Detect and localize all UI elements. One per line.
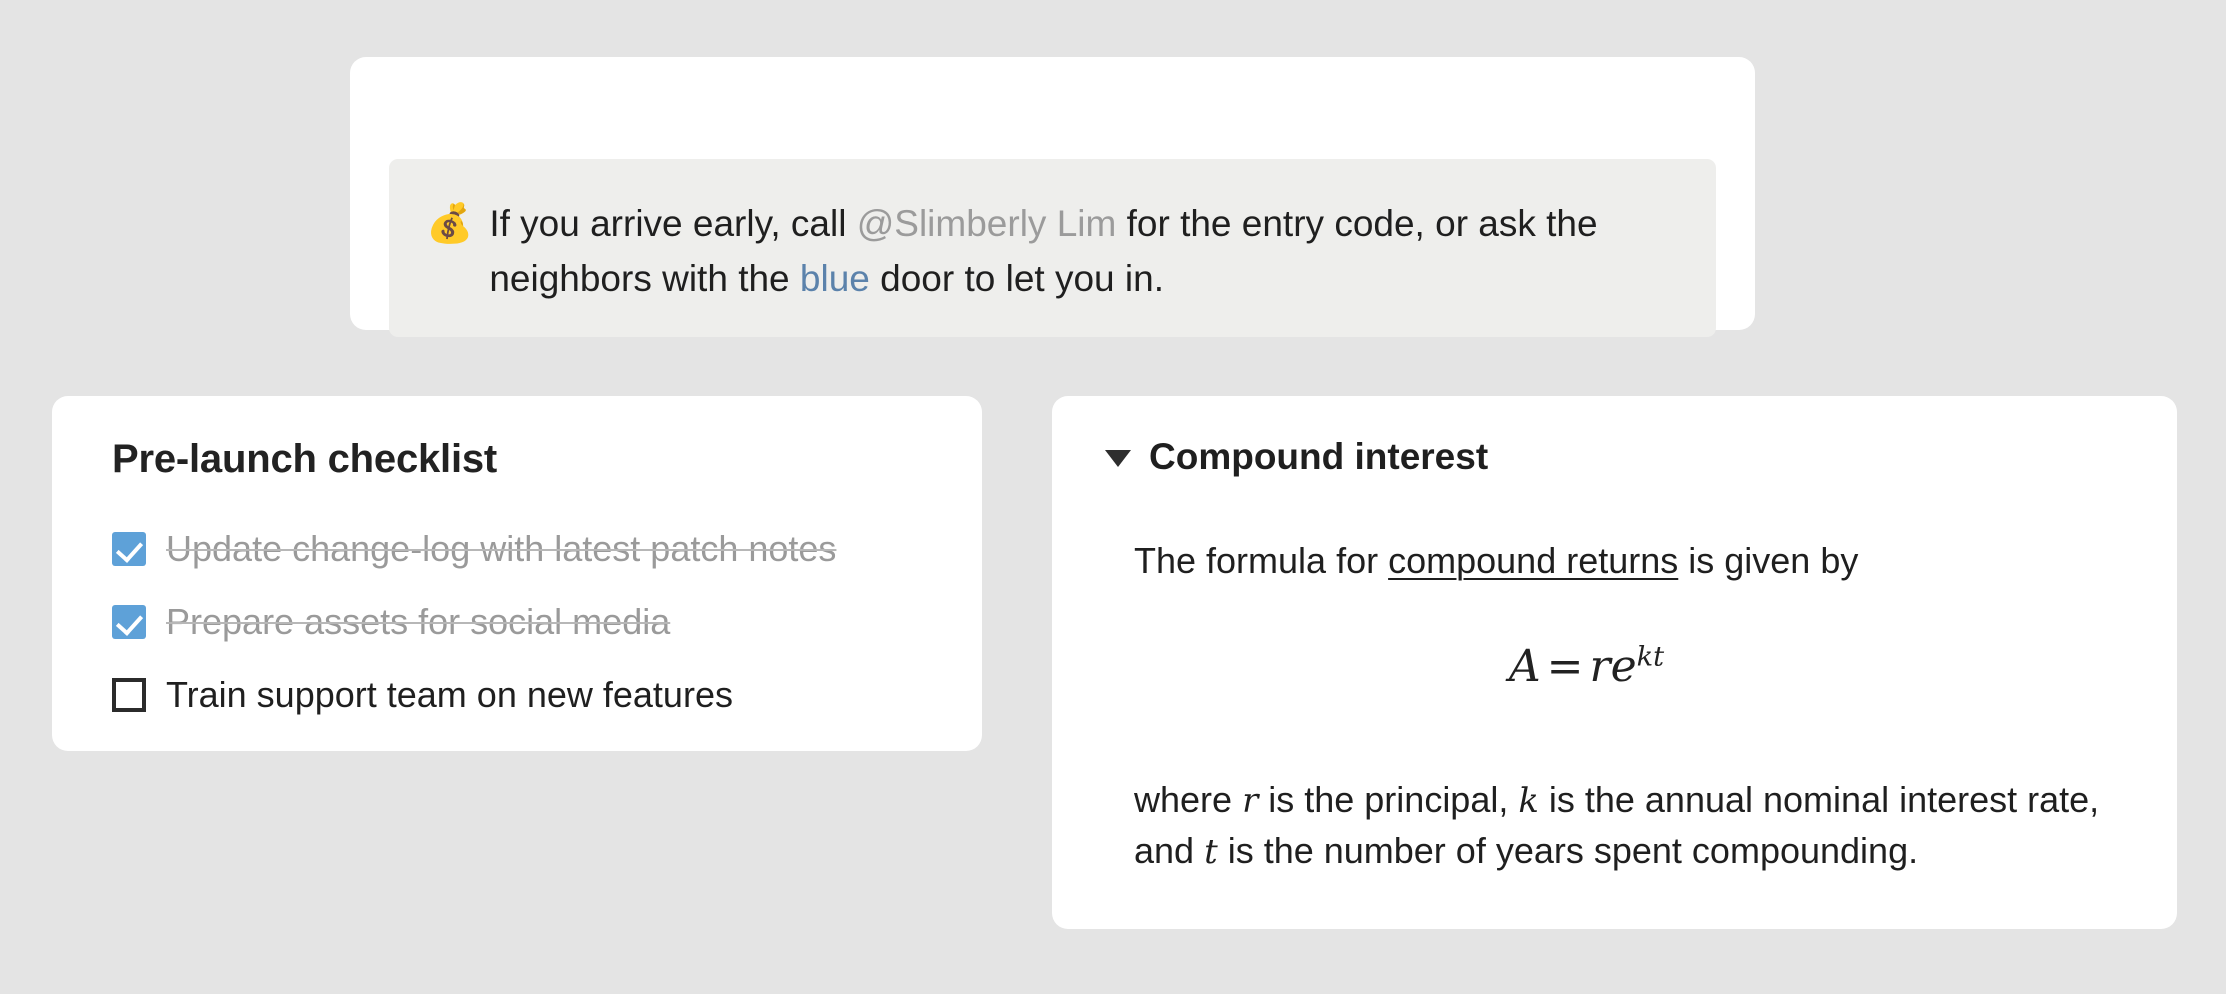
math-equation-display: A=rekt [1134,641,2129,692]
math-variable-t: t [1204,832,1218,871]
highlighted-word-blue: blue [800,258,870,299]
money-bag-emoji-icon: 💰 [426,196,473,251]
callout-card: 💰 If you arrive early, call @Slimberly L… [350,57,1755,330]
checkbox-unchecked-icon[interactable] [112,678,146,712]
equation-lhs: A [1509,641,1541,692]
checklist-items: Update change-log with latest patch note… [112,512,952,731]
math-variable-r: r [1242,781,1258,820]
chevron-down-icon[interactable] [1105,450,1131,467]
user-mention[interactable]: @Slimberly Lim [857,203,1117,244]
formula-explanation-paragraph: where r is the principal, k is the annua… [1134,774,2129,876]
checklist-title: Pre-launch checklist [112,437,497,482]
callout-text-end: door to let you in. [870,258,1164,299]
tail-segment-2: is the principal, [1258,779,1518,820]
list-item-label: Update change-log with latest patch note… [166,529,836,569]
compound-returns-link[interactable]: compound returns [1388,540,1678,581]
list-item[interactable]: Train support team on new features [112,658,952,731]
callout-content: 💰 If you arrive early, call @Slimberly L… [426,196,1686,306]
lead-text-before: The formula for [1134,540,1388,581]
checklist-card: Pre-launch checklist Update change-log w… [52,396,982,751]
tail-segment-1: where [1134,779,1242,820]
checkbox-checked-icon[interactable] [112,605,146,639]
section-title: Compound interest [1149,436,1488,478]
callout-box: 💰 If you arrive early, call @Slimberly L… [389,159,1716,337]
list-item[interactable]: Update change-log with latest patch note… [112,512,952,585]
callout-text-lead: If you arrive early, call [489,203,856,244]
formula-lead-paragraph: The formula for compound returns is give… [1134,537,2129,586]
equation-rhs-base: re [1590,641,1637,692]
checkbox-checked-icon[interactable] [112,532,146,566]
list-item-label: Train support team on new features [166,675,733,715]
compound-interest-body: The formula for compound returns is give… [1134,501,2129,912]
equation-operator: = [1541,641,1590,692]
list-item[interactable]: Prepare assets for social media [112,585,952,658]
collapsible-section-header[interactable]: Compound interest [1105,436,1488,478]
lead-text-after: is given by [1678,540,1858,581]
list-item-label: Prepare assets for social media [166,602,670,642]
tail-segment-4: is the number of years spent compounding… [1218,830,1918,871]
equation-rhs-exponent: kt [1637,641,1664,672]
compound-interest-card: Compound interest The formula for compou… [1052,396,2177,929]
callout-text: If you arrive early, call @Slimberly Lim… [489,196,1624,306]
math-variable-k: k [1518,781,1539,820]
page-root: 💰 If you arrive early, call @Slimberly L… [0,0,2226,994]
